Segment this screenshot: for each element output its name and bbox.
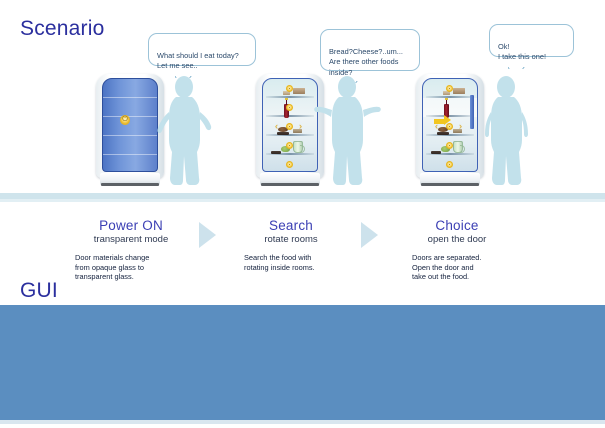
room-indicator-2[interactable] bbox=[286, 104, 293, 111]
step-description: Doors are separated. Open the door and t… bbox=[412, 253, 518, 282]
person-silhouette-3 bbox=[478, 74, 542, 187]
rotate-right-chevron-icon[interactable]: › bbox=[459, 122, 462, 131]
rotate-right-chevron-icon[interactable]: › bbox=[299, 122, 302, 131]
step-title: Choice bbox=[396, 218, 518, 233]
step-caption-search: Search rotate rooms Search the food with… bbox=[232, 218, 350, 272]
fridge-base bbox=[420, 173, 480, 186]
scenario-section: Scenario What should I eat today? Let me… bbox=[0, 0, 605, 278]
fridge-power-button[interactable]: ⏻ bbox=[120, 115, 130, 125]
room-indicator-1[interactable] bbox=[446, 85, 453, 92]
step-subtitle: transparent mode bbox=[68, 234, 194, 245]
person-silhouette-1 bbox=[156, 74, 220, 187]
step-subtitle: rotate rooms bbox=[232, 234, 350, 245]
fridge-base bbox=[260, 173, 320, 186]
step-title: Search bbox=[232, 218, 350, 233]
fridge-door-opaque bbox=[102, 78, 158, 172]
scenario-heading: Scenario bbox=[20, 17, 104, 41]
room-indicator-4[interactable] bbox=[446, 142, 453, 149]
step-caption-choice: Choice open the door Doors are separated… bbox=[396, 218, 518, 282]
step-arrow-icon bbox=[361, 222, 378, 248]
rotate-left-chevron-icon[interactable]: ‹ bbox=[275, 122, 278, 131]
person-silhouette-2 bbox=[314, 74, 384, 187]
room-indicator-4[interactable] bbox=[286, 142, 293, 149]
step-subtitle: open the door bbox=[396, 234, 518, 245]
fridge-unit-open: ‹ › bbox=[416, 74, 484, 186]
speech-bubble-1-text: What should I eat today? Let me see.. bbox=[157, 51, 239, 71]
speech-bubble-3: Ok! I take this one! bbox=[489, 24, 574, 57]
gui-section: ⏻ on ‹ › rotate bbox=[0, 305, 605, 420]
room-indicator-1[interactable] bbox=[286, 85, 293, 92]
step-description: Search the food with rotating inside roo… bbox=[244, 253, 350, 272]
room-indicator-3[interactable] bbox=[286, 123, 293, 130]
speech-bubble-tail-icon bbox=[508, 56, 525, 69]
speech-bubble-2: Bread?Cheese?..um... Are there other foo… bbox=[320, 29, 420, 71]
fridge-unit-opaque: ⏻ bbox=[96, 74, 164, 186]
rotate-left-chevron-icon[interactable]: ‹ bbox=[435, 122, 438, 131]
gui-bottom-strip bbox=[0, 420, 605, 424]
step-caption-power-on: Power ON transparent mode Door materials… bbox=[68, 218, 194, 282]
fridge-base bbox=[100, 173, 160, 186]
room-indicator-5[interactable] bbox=[286, 161, 293, 168]
floor-band-secondary bbox=[0, 199, 605, 202]
separated-door-panel bbox=[470, 95, 474, 129]
room-indicator-5[interactable] bbox=[446, 161, 453, 168]
gui-heading: GUI bbox=[20, 279, 58, 303]
speech-bubble-1: What should I eat today? Let me see.. bbox=[148, 33, 256, 66]
step-title: Power ON bbox=[68, 218, 194, 233]
room-indicator-3[interactable] bbox=[446, 123, 453, 130]
step-description: Door materials change from opaque glass … bbox=[75, 253, 194, 282]
step-arrow-icon bbox=[199, 222, 216, 248]
poster-root: Scenario What should I eat today? Let me… bbox=[0, 0, 605, 428]
